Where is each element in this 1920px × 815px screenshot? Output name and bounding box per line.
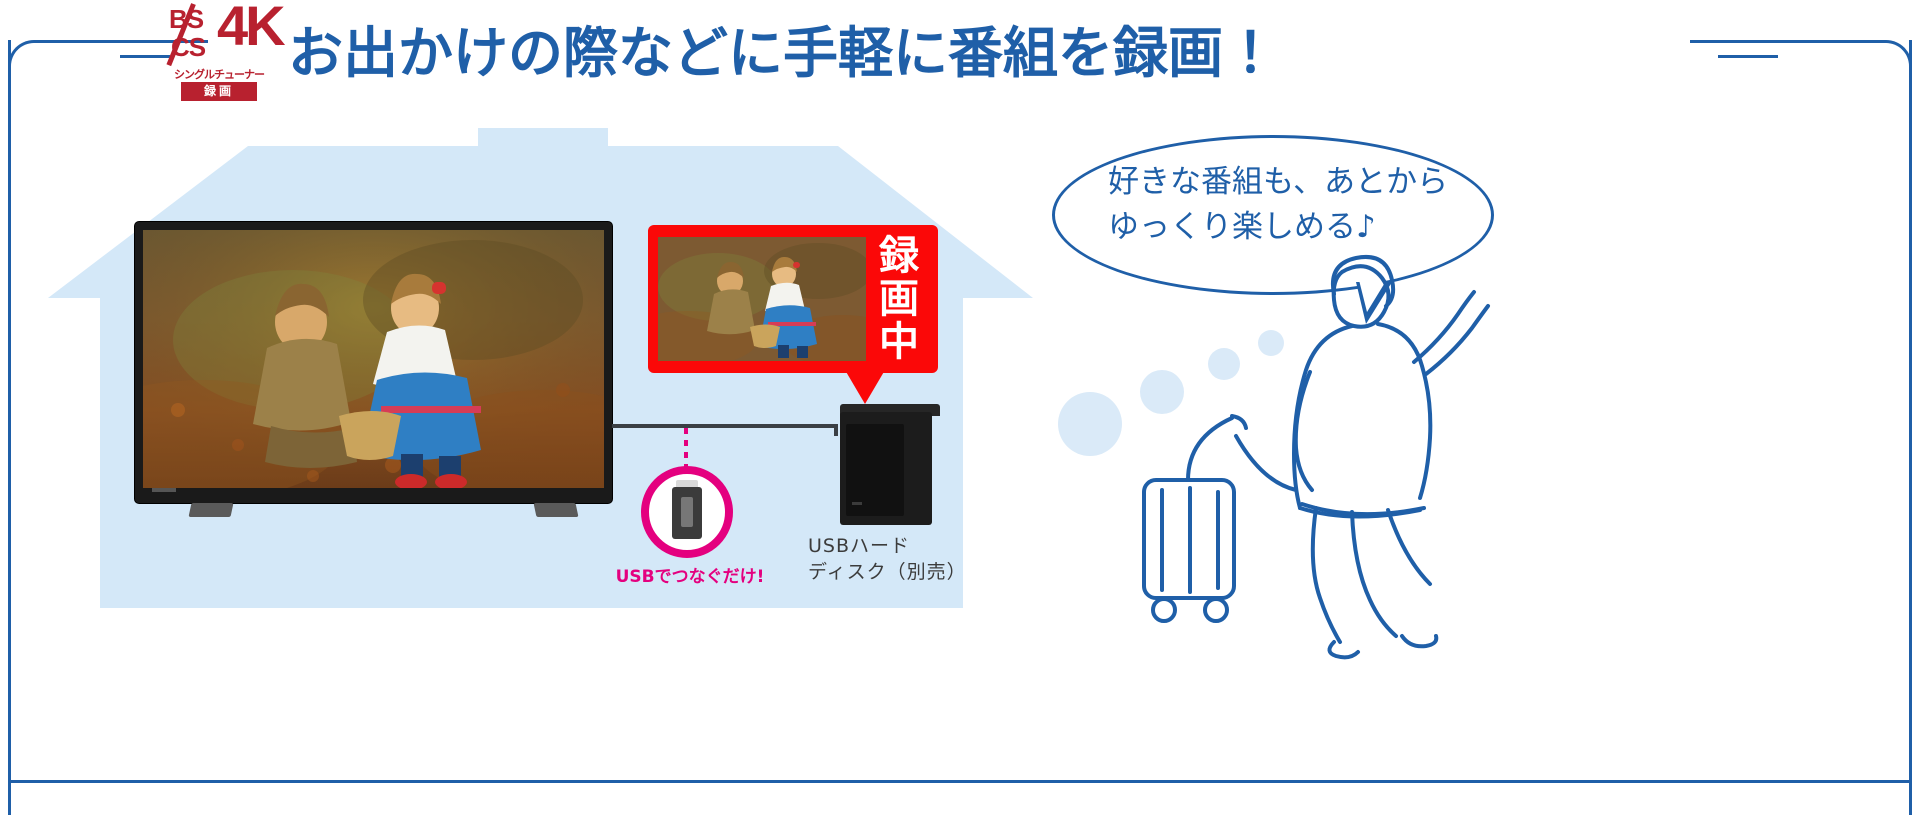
frame-right-edge [1909,40,1912,782]
promo-panel: BS CS 4K シングルチューナー 録画 お出かけの際などに手軽に番組を録画！ [0,0,1920,807]
page-title: お出かけの際などに手軽に番組を録画！ [288,8,1278,88]
recording-thumbnail [658,237,866,361]
usb-pointer-line [684,428,688,470]
tv-screen [143,230,604,488]
hdd-caption-line1: USBハード [808,533,978,559]
speech-line-2: ゆっくり楽しめる♪ [1108,205,1488,250]
recording-status-badge: 録画中 [870,235,928,363]
speech-line-1: 好きな番組も、あとから [1108,160,1488,205]
tv-brand-mark [152,488,176,492]
frame-right-corner [1690,40,1912,815]
heading-rule-left [120,55,170,58]
thought-dot [1058,392,1122,456]
frame-left-edge [8,40,11,782]
speech-bubble-text: 好きな番組も、あとから ゆっくり楽しめる♪ [1108,160,1488,250]
frame-bottom-edge [8,780,1912,783]
tv-stand-right [534,503,579,517]
television [135,222,612,503]
badge-tuner-subtitle: シングルチューナー [165,66,273,82]
usb-cable [612,424,838,428]
tv-stand-left [189,503,234,517]
bs-cs-4k-badge: BS CS 4K シングルチューナー 録画 [165,2,273,102]
badge-4k-label: 4K [217,0,283,54]
usb-caption: USBでつなぐだけ! [590,562,790,587]
hdd-caption: USBハード ディスク（別売） [808,533,978,585]
badge-main: BS CS 4K [165,2,273,72]
usb-plug-contact-icon [681,497,693,527]
traveler-with-suitcase [1120,250,1590,670]
hdd-led-indicator [852,502,862,505]
heading-rule-right [1718,55,1778,58]
hdd-caption-line2: ディスク（別売） [808,559,978,585]
recording-arrow-icon [845,370,885,404]
recording-indicator-card: 録画中 [648,225,938,373]
usb-hard-disk [832,402,940,527]
badge-bscs-group: BS CS [167,6,221,68]
badge-record-tag: 録画 [181,82,257,101]
